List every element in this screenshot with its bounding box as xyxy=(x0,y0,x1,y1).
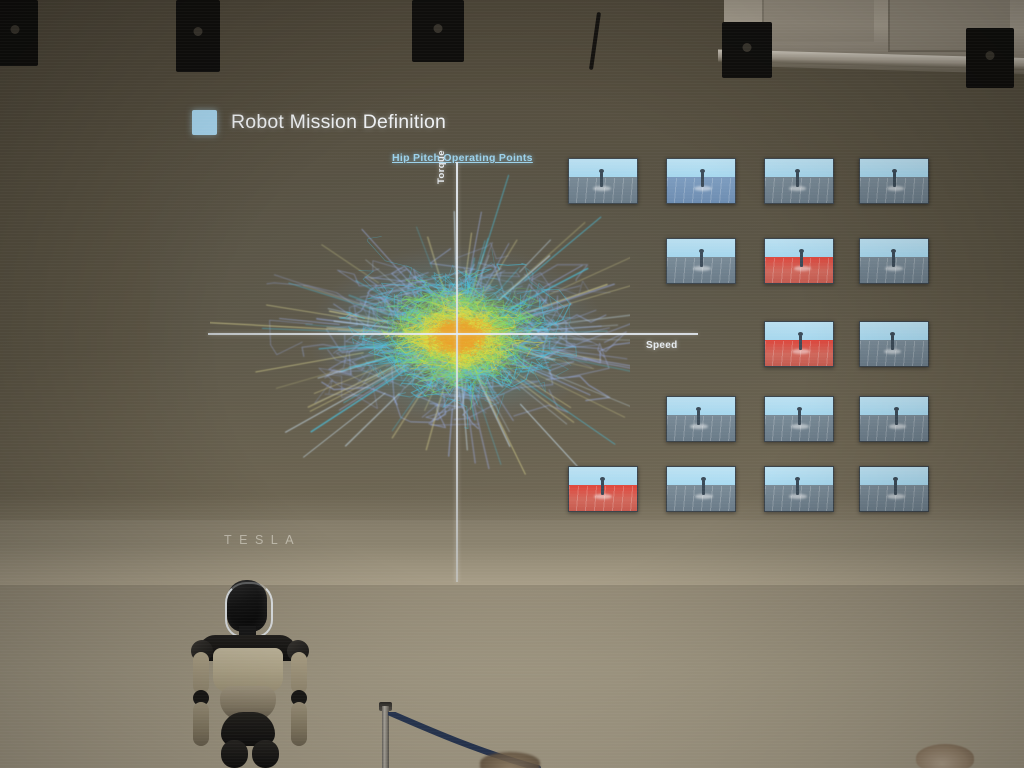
thumb-robot-figure xyxy=(893,172,896,187)
thumb-robot-figure xyxy=(799,335,802,350)
tesla-wordmark: TESLA xyxy=(224,533,301,547)
simulation-thumbnail-grid xyxy=(568,158,938,528)
thumb-sky xyxy=(860,322,928,340)
thumb-robot-figure xyxy=(697,410,700,425)
sim-thumbnail-r2-c3[interactable] xyxy=(764,238,834,284)
title-swatch-icon xyxy=(192,110,217,135)
thumb-sky xyxy=(765,239,833,257)
sim-thumbnail-r5-c3[interactable] xyxy=(764,466,834,512)
thumb-robot-figure xyxy=(700,252,703,267)
projected-slide: Robot Mission Definition Hip Pitch Opera… xyxy=(150,88,960,528)
robot-hip-left xyxy=(221,740,248,768)
light-lens-icon xyxy=(986,51,995,60)
ceiling-light-3 xyxy=(412,0,464,62)
torque-axis-line xyxy=(456,162,458,582)
light-lens-icon xyxy=(11,25,20,34)
thumb-robot-figure xyxy=(796,172,799,187)
light-lens-icon xyxy=(434,24,443,33)
robot-forearm-left xyxy=(193,702,209,746)
ceiling-light-5 xyxy=(966,28,1014,88)
thumb-robot-figure xyxy=(798,410,801,425)
thumb-robot-figure xyxy=(894,480,897,495)
thumb-robot-figure xyxy=(800,252,803,267)
thumb-robot-figure xyxy=(702,480,705,495)
robot-upper-arm-right xyxy=(291,652,307,694)
audience-head-center xyxy=(480,752,540,768)
thumb-robot-figure xyxy=(701,172,704,187)
ceiling-light-4 xyxy=(722,22,772,78)
robot-hip-right xyxy=(252,740,279,768)
thumb-robot-figure xyxy=(892,252,895,267)
sim-thumbnail-r5-c1[interactable] xyxy=(568,466,638,512)
light-lens-icon xyxy=(743,43,752,52)
sim-thumbnail-r3-c4[interactable] xyxy=(859,321,929,367)
thumb-sky xyxy=(667,397,735,415)
thumb-robot-figure xyxy=(891,335,894,350)
robot-forearm-right xyxy=(291,702,307,746)
thumb-robot-figure xyxy=(601,480,604,495)
light-lens-icon xyxy=(194,27,203,36)
humanoid-robot xyxy=(175,580,325,768)
photo-scene: Robot Mission Definition Hip Pitch Opera… xyxy=(0,0,1024,768)
sim-thumbnail-r3-c3[interactable] xyxy=(764,321,834,367)
thumb-robot-figure xyxy=(796,480,799,495)
robot-upper-arm-left xyxy=(193,652,209,694)
sim-thumbnail-r1-c3[interactable] xyxy=(764,158,834,204)
thumb-robot-figure xyxy=(600,172,603,187)
y-axis-label: Torque xyxy=(436,150,447,184)
sim-thumbnail-r1-c1[interactable] xyxy=(568,158,638,204)
sim-thumbnail-r5-c4[interactable] xyxy=(859,466,929,512)
sim-thumbnail-r2-c2[interactable] xyxy=(666,238,736,284)
thumb-sky xyxy=(765,159,833,177)
sim-thumbnail-r2-c4[interactable] xyxy=(859,238,929,284)
sim-thumbnail-r5-c2[interactable] xyxy=(666,466,736,512)
sim-thumbnail-r4-c3[interactable] xyxy=(764,396,834,442)
audience-head-right xyxy=(916,744,974,768)
slide-title: Robot Mission Definition xyxy=(231,111,446,134)
sim-thumbnail-r1-c2[interactable] xyxy=(666,158,736,204)
thumb-sky xyxy=(860,397,928,415)
ceiling-light-2 xyxy=(176,0,220,72)
operating-points-cloud xyxy=(210,158,630,518)
thumb-robot-figure xyxy=(895,410,898,425)
soffit-panel-secondary xyxy=(762,0,874,42)
slide-title-row: Robot Mission Definition xyxy=(192,110,446,135)
sim-thumbnail-r4-c4[interactable] xyxy=(859,396,929,442)
sim-thumbnail-r1-c4[interactable] xyxy=(859,158,929,204)
sim-thumbnail-r4-c2[interactable] xyxy=(666,396,736,442)
ceiling-light-1 xyxy=(0,0,38,66)
